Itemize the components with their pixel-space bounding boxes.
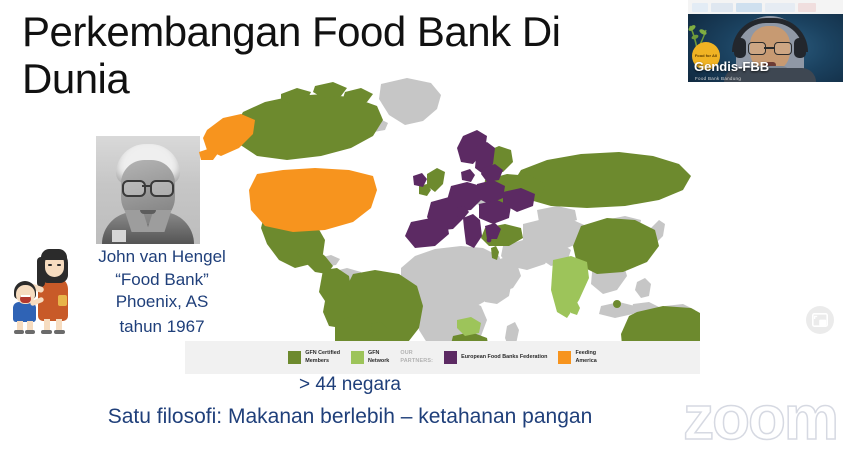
country-count-text: > 44 negara <box>0 374 700 396</box>
photo-pocket-badge <box>112 230 126 242</box>
mother-shoe-left <box>41 330 52 334</box>
sponsor-logo-3 <box>736 3 762 12</box>
world-map <box>185 68 700 368</box>
view-layout-icon[interactable] <box>806 306 834 334</box>
legend-partners-heading: OUR PARTNERS: <box>400 350 433 365</box>
sponsor-logo-1 <box>692 3 708 12</box>
sponsor-logo-2 <box>711 3 733 12</box>
mother-hair-side <box>37 257 45 287</box>
sponsor-logo-5 <box>798 3 816 12</box>
headphone-cup-right <box>794 38 806 58</box>
participant-glasses-right <box>774 42 792 55</box>
child-shoe-left <box>14 330 24 334</box>
mother-bag <box>58 295 67 306</box>
participant-name-label: Gendis-FBB <box>694 59 769 74</box>
photo-glasses-right <box>150 180 174 197</box>
mother-shoe-right <box>54 330 65 334</box>
photo-glasses-bridge <box>142 185 150 187</box>
logo-banner-strip <box>688 0 843 14</box>
participant-glasses-bridge <box>764 47 774 49</box>
child-shoe-right <box>25 330 35 334</box>
legend-label-eu-federation: European Food Banks Federation <box>461 354 547 361</box>
mother-eye-left <box>48 264 52 266</box>
legend-item-gfn-network: GFN Network <box>351 350 389 365</box>
legend-item-gfn-certified: GFN Certified Members <box>288 350 340 365</box>
legend-item-eu-federation: European Food Banks Federation <box>444 351 547 364</box>
legend-label-our-partners: OUR PARTNERS: <box>400 350 433 365</box>
legend-swatch-feeding-america <box>558 351 571 364</box>
child-teeth <box>21 295 30 297</box>
world-map-svg <box>185 68 700 358</box>
participant-subtitle: Food Bank Bandung <box>695 76 741 81</box>
photo-glasses-left <box>122 180 146 197</box>
headphone-cup-left <box>734 38 746 58</box>
mother-fringe <box>41 249 67 260</box>
legend-swatch-gfn-certified <box>288 351 301 364</box>
participant-video-tile[interactable]: Food for All Gendis-FBB Food Bank Bandun… <box>688 0 843 82</box>
legend-item-feeding-america: Feeding America <box>558 350 596 365</box>
legend-swatch-gfn-network <box>351 351 364 364</box>
mother-eye-right <box>57 264 61 266</box>
photo-mouth <box>140 210 156 214</box>
legend-label-gfn-certified: GFN Certified Members <box>305 350 340 365</box>
legend-swatch-eu-federation <box>444 351 457 364</box>
layout-glyph-icon <box>812 313 828 327</box>
legend-label-feeding-america: Feeding America <box>575 350 596 365</box>
map-legend: GFN Certified Members GFN Network OUR PA… <box>185 341 700 374</box>
philosophy-text: Satu filosofi: Makanan berlebih – ketaha… <box>0 405 700 429</box>
legend-label-gfn-network: GFN Network <box>368 350 389 365</box>
sponsor-logo-4 <box>765 3 795 12</box>
